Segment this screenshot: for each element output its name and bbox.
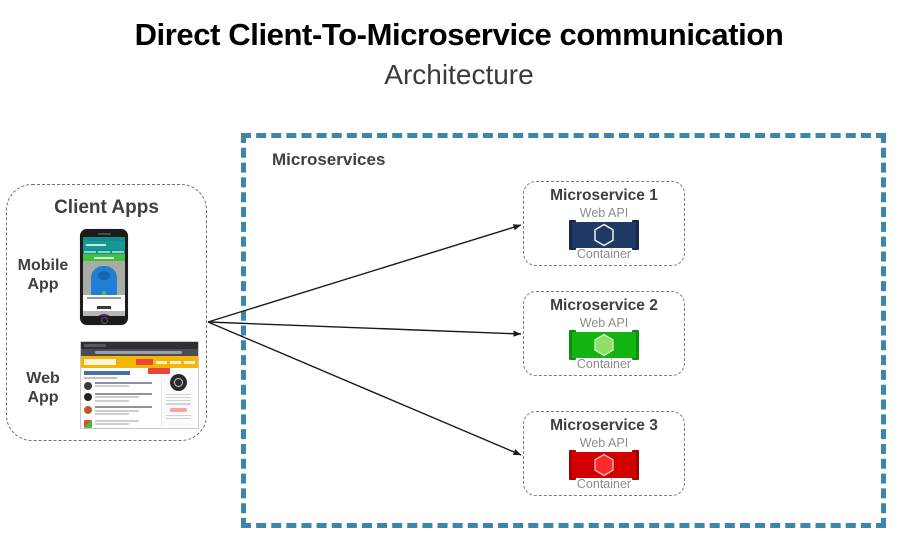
- browser-mockup-icon: [80, 341, 199, 429]
- hexagon-icon: [593, 223, 615, 247]
- container-icon: [569, 222, 639, 248]
- hexagon-icon: [593, 453, 615, 477]
- phone-speaker-icon: [98, 233, 111, 235]
- architecture-diagram: Direct Client-To-Microservice communicat…: [0, 0, 918, 537]
- browser-feed: [84, 371, 158, 427]
- mobile-app-label: Mobile App: [8, 257, 78, 295]
- web-app-label-line-2: App: [8, 389, 78, 408]
- container-icon: [569, 332, 639, 358]
- sidebar-cta-button: [170, 408, 187, 412]
- sidebar-badge-icon: [170, 374, 187, 391]
- container-icon: [569, 452, 639, 478]
- phone-home-button-icon: [101, 317, 108, 324]
- web-app-label-line-1: Web: [8, 370, 78, 389]
- hoodie-graphic-icon: [91, 266, 117, 295]
- avatar: [84, 382, 92, 390]
- hexagon-icon: [593, 333, 615, 357]
- phone-mockup-icon: [80, 229, 128, 325]
- microservice-2-container-label: Container: [524, 357, 684, 371]
- microservice-3-box: Microservice 3 Web API Container: [523, 411, 685, 496]
- microservice-3-api-label: Web API: [524, 436, 684, 450]
- microservice-2-box: Microservice 2 Web API Container: [523, 291, 685, 376]
- phone-product-image: [83, 261, 125, 295]
- page-title: Direct Client-To-Microservice communicat…: [0, 18, 918, 52]
- browser-site-nav: [81, 356, 198, 368]
- avatar: [84, 406, 92, 414]
- avatar: [84, 393, 92, 401]
- microservice-2-title: Microservice 2: [524, 297, 684, 315]
- microservice-1-title: Microservice 1: [524, 187, 684, 205]
- phone-screen: [83, 237, 125, 316]
- phone-product-price: [83, 304, 125, 311]
- web-app-label: Web App: [8, 370, 78, 408]
- phone-app-bar: [83, 241, 125, 249]
- mobile-app-label-line-2: App: [8, 276, 78, 295]
- avatar: [84, 420, 92, 428]
- feed-subheading: [84, 377, 117, 379]
- list-item: [84, 382, 158, 390]
- microservice-1-box: Microservice 1 Web API Container: [523, 181, 685, 266]
- phone-cta-button: [83, 254, 125, 261]
- feed-action-button: [148, 368, 170, 374]
- browser-sidebar: [161, 371, 195, 427]
- list-item: [84, 406, 158, 416]
- phone-product-caption: [83, 295, 125, 304]
- microservice-3-container-label: Container: [524, 477, 684, 491]
- mobile-app-label-line-1: Mobile: [8, 257, 78, 276]
- client-apps-title: Client Apps: [6, 197, 207, 219]
- page-subtitle: Architecture: [0, 60, 918, 91]
- browser-address-bar: [81, 349, 198, 356]
- browser-tab-bar: [81, 342, 198, 349]
- site-nav-cta: [136, 359, 153, 365]
- microservice-3-title: Microservice 3: [524, 417, 684, 435]
- feed-heading: [84, 371, 130, 375]
- phone-next-product: [83, 311, 125, 316]
- list-item: [84, 393, 158, 403]
- browser-page-body: [81, 368, 198, 429]
- site-logo: [84, 359, 116, 365]
- microservice-2-api-label: Web API: [524, 316, 684, 330]
- list-item: [84, 420, 158, 428]
- microservice-1-api-label: Web API: [524, 206, 684, 220]
- microservices-region-label: Microservices: [272, 150, 385, 170]
- microservice-1-container-label: Container: [524, 247, 684, 261]
